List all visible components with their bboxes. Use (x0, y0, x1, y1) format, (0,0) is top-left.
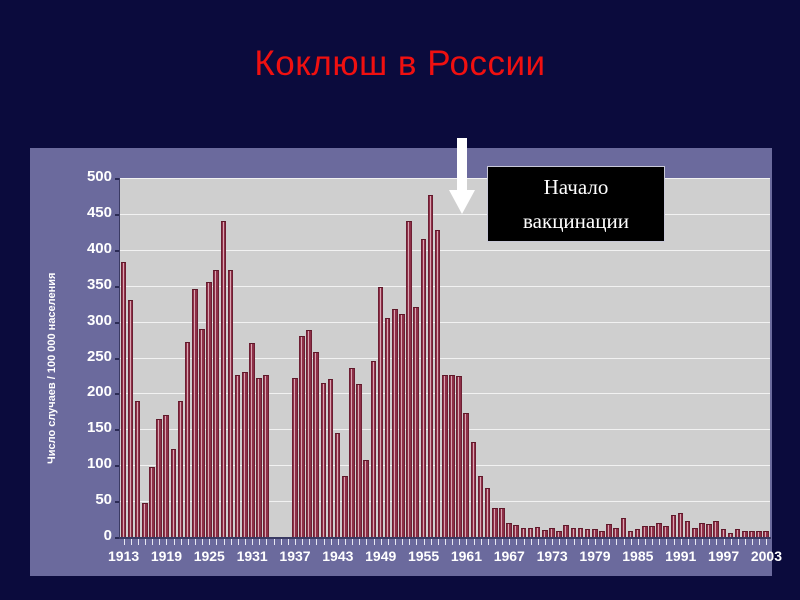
bar (556, 531, 562, 537)
bar-highlight (523, 529, 524, 537)
bar-highlight (251, 344, 252, 537)
gridline (120, 178, 770, 179)
bar (592, 529, 598, 537)
x-tick-mark (695, 539, 696, 545)
bar-highlight (358, 385, 359, 537)
x-tick-mark (452, 539, 453, 545)
bar-highlight (137, 402, 138, 537)
bar-highlight (423, 240, 424, 537)
bar-highlight (580, 529, 581, 537)
bar (642, 526, 648, 537)
x-tick-label: 1973 (530, 548, 574, 564)
bar-highlight (387, 319, 388, 537)
bar (506, 523, 512, 537)
x-tick-mark (431, 539, 432, 545)
bar (735, 529, 741, 537)
bar (421, 239, 427, 537)
x-tick-mark (388, 539, 389, 545)
bar (392, 309, 398, 537)
bar (321, 383, 327, 537)
bar-highlight (130, 301, 131, 537)
x-tick-mark (245, 539, 246, 545)
bar-highlight (608, 525, 609, 537)
bar-highlight (715, 522, 716, 538)
bar (413, 307, 419, 537)
bar-highlight (644, 527, 645, 537)
x-tick-mark (674, 539, 675, 545)
bar (342, 476, 348, 537)
bar-highlight (701, 524, 702, 537)
bar (749, 531, 755, 537)
x-tick-mark (402, 539, 403, 545)
bar-highlight (630, 532, 631, 537)
bar (535, 527, 541, 537)
bar-highlight (215, 271, 216, 537)
bar (663, 526, 669, 537)
x-tick-mark (309, 539, 310, 545)
x-tick-mark (252, 539, 253, 545)
bar (613, 528, 619, 537)
x-tick-mark (152, 539, 153, 545)
bar-highlight (208, 283, 209, 537)
bar-highlight (665, 527, 666, 537)
bar-highlight (765, 532, 766, 537)
x-tick-label: 1943 (316, 548, 360, 564)
bar-highlight (323, 384, 324, 537)
bar-highlight (658, 524, 659, 537)
bar (235, 375, 241, 537)
bar (221, 221, 227, 537)
y-tick-label: 50 (66, 491, 112, 508)
bar (121, 262, 127, 537)
x-tick-mark (502, 539, 503, 545)
bar (742, 531, 748, 537)
x-tick-mark (466, 539, 467, 545)
bar (492, 508, 498, 537)
bar (456, 376, 462, 537)
bar-highlight (694, 529, 695, 537)
bar-highlight (708, 525, 709, 537)
x-tick-mark (324, 539, 325, 545)
x-tick-mark (538, 539, 539, 545)
x-tick-mark (259, 539, 260, 545)
bar (585, 529, 591, 537)
bar (335, 433, 341, 537)
bar (192, 289, 198, 537)
x-tick-mark (709, 539, 710, 545)
bar-highlight (758, 532, 759, 537)
x-tick-mark (659, 539, 660, 545)
bar (478, 476, 484, 537)
bar-highlight (680, 514, 681, 537)
x-tick-mark (595, 539, 596, 545)
bar (299, 336, 305, 537)
x-tick-label: 2003 (744, 548, 788, 564)
bar (149, 467, 155, 537)
y-tick-label: 500 (66, 168, 112, 185)
bar (228, 270, 234, 537)
bar (406, 221, 412, 537)
bar (385, 318, 391, 537)
bar (671, 515, 677, 537)
bar-highlight (344, 477, 345, 537)
x-tick-mark (438, 539, 439, 545)
vaccination-start-annotation: Начало вакцинации (487, 166, 665, 242)
bar-highlight (558, 532, 559, 537)
x-tick-mark (195, 539, 196, 545)
bar (185, 342, 191, 537)
x-tick-mark (524, 539, 525, 545)
x-tick-mark (752, 539, 753, 545)
bar (363, 460, 369, 537)
x-tick-mark (395, 539, 396, 545)
x-tick-mark (509, 539, 510, 545)
bar (563, 525, 569, 537)
x-tick-mark (266, 539, 267, 545)
bar-highlight (123, 263, 124, 537)
x-tick-mark (131, 539, 132, 545)
bar-highlight (301, 337, 302, 537)
x-tick-mark (238, 539, 239, 545)
x-tick-label: 1997 (702, 548, 746, 564)
x-tick-label: 1919 (144, 548, 188, 564)
y-tick-label: 200 (66, 383, 112, 400)
x-tick-mark (159, 539, 160, 545)
x-tick-mark (138, 539, 139, 545)
bar-highlight (258, 379, 259, 537)
bar (463, 413, 469, 537)
bar (206, 282, 212, 537)
x-tick-mark (381, 539, 382, 545)
bar-highlight (594, 530, 595, 537)
x-tick-mark (566, 539, 567, 545)
bar (606, 524, 612, 537)
bar (292, 378, 298, 537)
gridline (120, 250, 770, 251)
plot-area (120, 178, 770, 537)
x-tick-mark (666, 539, 667, 545)
bar (549, 528, 555, 537)
x-tick-mark (481, 539, 482, 545)
y-tick-label: 400 (66, 240, 112, 257)
bar-highlight (687, 522, 688, 537)
bar-highlight (265, 376, 266, 537)
bar (699, 523, 705, 537)
x-tick-mark (374, 539, 375, 545)
bar (142, 503, 148, 537)
bar-highlight (165, 416, 166, 537)
bar (763, 531, 769, 537)
bar-highlight (451, 376, 452, 537)
bar-highlight (537, 528, 538, 537)
bar-highlight (201, 330, 202, 537)
bar (356, 384, 362, 537)
x-tick-mark (424, 539, 425, 545)
x-tick-mark (366, 539, 367, 545)
bar-highlight (751, 532, 752, 537)
bar (171, 449, 177, 537)
x-tick-mark (588, 539, 589, 545)
x-tick-mark (759, 539, 760, 545)
bar-highlight (565, 526, 566, 537)
bar (442, 375, 448, 537)
x-tick-mark (331, 539, 332, 545)
x-tick-mark (359, 539, 360, 545)
x-tick-mark (652, 539, 653, 545)
bar-highlight (351, 369, 352, 537)
x-tick-mark (574, 539, 575, 545)
bar-highlight (601, 532, 602, 537)
bar-highlight (437, 231, 438, 537)
x-tick-label: 1979 (573, 548, 617, 564)
bar-highlight (673, 516, 674, 537)
page-title: Коклюш в России (0, 44, 800, 84)
bar (263, 375, 269, 537)
bar-highlight (551, 529, 552, 537)
x-tick-mark (488, 539, 489, 545)
bar (678, 513, 684, 537)
x-tick-mark (516, 539, 517, 545)
x-tick-label: 1913 (102, 548, 146, 564)
x-tick-mark (716, 539, 717, 545)
bar (435, 230, 441, 537)
bar-highlight (158, 420, 159, 537)
x-tick-label: 1937 (273, 548, 317, 564)
x-tick-mark (766, 539, 767, 545)
x-tick-mark (231, 539, 232, 545)
bar-highlight (487, 489, 488, 537)
bar-highlight (337, 434, 338, 537)
bar-highlight (394, 310, 395, 537)
x-tick-mark (209, 539, 210, 545)
y-tick-label: 0 (66, 527, 112, 544)
x-tick-mark (288, 539, 289, 545)
bar-highlight (223, 222, 224, 537)
bar (256, 378, 262, 537)
x-tick-mark (224, 539, 225, 545)
bar-highlight (244, 373, 245, 537)
x-tick-mark (681, 539, 682, 545)
x-tick-mark (352, 539, 353, 545)
x-tick-mark (724, 539, 725, 545)
bar (242, 372, 248, 537)
bar (756, 531, 762, 537)
bar (349, 368, 355, 537)
y-axis-title: Число случаев / 100 000 населения (43, 208, 61, 528)
bar (313, 352, 319, 537)
x-tick-label: 1985 (616, 548, 660, 564)
bar (528, 528, 534, 537)
x-tick-mark (345, 539, 346, 545)
bar (728, 533, 734, 537)
x-tick-mark (474, 539, 475, 545)
bar-highlight (308, 331, 309, 537)
x-tick-mark (581, 539, 582, 545)
y-tick-label: 350 (66, 276, 112, 293)
x-tick-mark (302, 539, 303, 545)
bar-highlight (365, 461, 366, 537)
x-tick-mark (745, 539, 746, 545)
bar (635, 529, 641, 537)
x-tick-mark (738, 539, 739, 545)
bar-highlight (473, 443, 474, 537)
bar (692, 528, 698, 537)
bar-highlight (623, 519, 624, 537)
y-tick-label: 250 (66, 348, 112, 365)
bar-highlight (515, 526, 516, 537)
x-tick-label: 1955 (402, 548, 446, 564)
gridline (120, 214, 770, 215)
bar (428, 195, 434, 537)
bar-highlight (544, 531, 545, 537)
annotation-line-2: вакцинации (488, 204, 664, 238)
bar (371, 361, 377, 537)
bar (449, 375, 455, 537)
bar (649, 526, 655, 537)
x-tick-mark (316, 539, 317, 545)
x-tick-mark (166, 539, 167, 545)
x-tick-mark (638, 539, 639, 545)
bar (471, 442, 477, 537)
bar (306, 330, 312, 537)
x-tick-label: 1925 (187, 548, 231, 564)
bar-highlight (494, 509, 495, 537)
x-tick-mark (295, 539, 296, 545)
bar-highlight (730, 534, 731, 537)
y-tick-label: 150 (66, 419, 112, 436)
bar (685, 521, 691, 537)
bar (713, 521, 719, 538)
bar (378, 287, 384, 537)
x-tick-mark (688, 539, 689, 545)
x-tick-mark (602, 539, 603, 545)
x-tick-mark (459, 539, 460, 545)
bar (721, 529, 727, 537)
bar-highlight (530, 529, 531, 537)
x-tick-mark (274, 539, 275, 545)
bar-highlight (151, 468, 152, 537)
x-tick-mark (609, 539, 610, 545)
bar-highlight (408, 222, 409, 537)
bar-highlight (430, 196, 431, 537)
x-tick-mark (552, 539, 553, 545)
bar (199, 329, 205, 537)
bar-highlight (373, 362, 374, 537)
y-tick-label: 300 (66, 312, 112, 329)
x-tick-mark (145, 539, 146, 545)
bar-highlight (230, 271, 231, 537)
bar (328, 379, 334, 537)
x-tick-mark (416, 539, 417, 545)
bar-highlight (237, 376, 238, 537)
bar-highlight (194, 290, 195, 537)
bar (571, 528, 577, 537)
bar-highlight (573, 529, 574, 537)
x-tick-mark (181, 539, 182, 545)
x-tick-mark (338, 539, 339, 545)
x-tick-mark (631, 539, 632, 545)
x-tick-mark (445, 539, 446, 545)
x-tick-mark (202, 539, 203, 545)
bar-highlight (465, 414, 466, 537)
bar (128, 300, 134, 537)
bar (542, 530, 548, 537)
x-tick-label: 1991 (659, 548, 703, 564)
x-tick-mark (702, 539, 703, 545)
x-tick-mark (559, 539, 560, 545)
bar (656, 523, 662, 537)
bar-highlight (651, 527, 652, 537)
bar (513, 525, 519, 537)
bar (178, 401, 184, 537)
bar-highlight (173, 450, 174, 537)
bar-highlight (144, 504, 145, 537)
bar (163, 415, 169, 537)
x-tick-mark (409, 539, 410, 545)
x-tick-mark (124, 539, 125, 545)
bar (399, 314, 405, 537)
down-arrow-icon (447, 138, 477, 218)
bar (578, 528, 584, 537)
x-tick-mark (174, 539, 175, 545)
bar (599, 531, 605, 537)
x-tick-mark (731, 539, 732, 545)
bar-highlight (508, 524, 509, 537)
bar-highlight (401, 315, 402, 537)
bar-highlight (187, 343, 188, 537)
x-tick-mark (645, 539, 646, 545)
bar-highlight (180, 402, 181, 537)
x-tick-mark (531, 539, 532, 545)
y-tick-label: 100 (66, 455, 112, 472)
x-tick-mark (545, 539, 546, 545)
bar (621, 518, 627, 537)
annotation-line-1: Начало (488, 170, 664, 204)
slide-canvas: Коклюш в России Число случаев / 100 000 … (0, 0, 800, 600)
bar-highlight (294, 379, 295, 537)
bar (135, 401, 141, 537)
bar-highlight (330, 380, 331, 537)
bar (249, 343, 255, 537)
x-tick-label: 1949 (359, 548, 403, 564)
x-tick-mark (616, 539, 617, 545)
bar-highlight (723, 530, 724, 537)
bar-highlight (737, 530, 738, 537)
bar (156, 419, 162, 537)
bar (213, 270, 219, 537)
bar (706, 524, 712, 537)
x-tick-mark (495, 539, 496, 545)
bar-highlight (744, 532, 745, 537)
bar (485, 488, 491, 537)
bar-highlight (415, 308, 416, 537)
bar-highlight (637, 530, 638, 537)
x-tick-label: 1931 (230, 548, 274, 564)
y-tick-label: 450 (66, 204, 112, 221)
bar (628, 531, 634, 537)
x-tick-mark (624, 539, 625, 545)
x-tick-label: 1961 (444, 548, 488, 564)
x-tick-label: 1967 (487, 548, 531, 564)
x-tick-mark (188, 539, 189, 545)
bar-highlight (480, 477, 481, 537)
bar-highlight (587, 530, 588, 537)
x-tick-mark (216, 539, 217, 545)
bar-highlight (444, 376, 445, 537)
x-tick-mark (281, 539, 282, 545)
bar-highlight (501, 509, 502, 537)
bar-highlight (315, 353, 316, 537)
